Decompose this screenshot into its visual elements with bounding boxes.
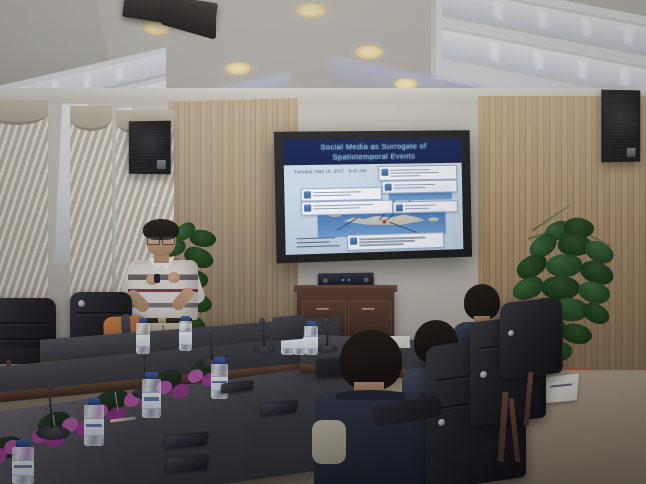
slide: Social Media as Surrogate of Spatiotempo… — [283, 138, 463, 255]
tweet-card — [393, 200, 458, 214]
presenter-clicker — [154, 274, 160, 283]
conference-room-photo: Social Media as Surrogate of Spatiotempo… — [0, 0, 646, 484]
water-bottle[interactable] — [305, 321, 318, 355]
slide-date-label: Tuesday, May 16, 2017 · 9:41 AM — [294, 168, 366, 174]
phone-screen — [164, 433, 208, 448]
credenza-handle-left[interactable] — [316, 308, 329, 310]
laptop[interactable] — [272, 315, 305, 342]
bottle-label — [142, 392, 161, 409]
microphone-base-1 — [36, 426, 70, 440]
tweet-avatar-icon — [304, 205, 311, 212]
bottle-label — [12, 460, 34, 476]
bottle-body — [305, 326, 318, 355]
tweet-card — [378, 165, 457, 181]
bottle-body — [84, 405, 104, 446]
chair-right-3[interactable] — [500, 297, 562, 380]
bottle-body — [12, 447, 34, 484]
microphone-head-1 — [47, 384, 53, 390]
speaker-badge-left — [157, 160, 166, 169]
slide-body: Tuesday, May 16, 2017 · 9:41 AM — [284, 163, 464, 255]
tweet-card — [347, 232, 444, 251]
tweet-card — [382, 179, 457, 194]
credenza-handle-right[interactable] — [362, 308, 375, 310]
bottle-body — [179, 321, 192, 351]
speaker-badge-right — [627, 148, 636, 157]
attendee-1-collar — [336, 390, 406, 400]
map-island-2 — [428, 217, 438, 222]
downlight-4 — [355, 45, 383, 59]
attendee-1-head — [340, 330, 402, 390]
presenter-hand-right — [168, 272, 180, 283]
bottle-cap — [88, 398, 101, 405]
bottle-cap — [214, 357, 225, 364]
water-bottle[interactable] — [84, 398, 104, 446]
tweet-avatar-icon — [381, 169, 388, 176]
water-bottle[interactable] — [136, 318, 150, 354]
slide-title-line-2: Spatiotemporal Events — [332, 151, 415, 162]
microphone-head-3 — [207, 328, 213, 334]
chair-right-1-stud — [438, 418, 445, 426]
tweet-avatar-icon — [396, 204, 403, 211]
downlight-2 — [296, 3, 326, 18]
wall-speaker-left — [129, 121, 171, 175]
downlight-3 — [225, 62, 251, 75]
ceiling-sprinkler — [320, 68, 327, 75]
slide-header: Social Media as Surrogate of Spatiotempo… — [283, 138, 461, 165]
bottle-label — [305, 336, 318, 349]
presenter-glasses — [147, 236, 175, 243]
microphone-head-4 — [259, 318, 265, 324]
tweet-card — [301, 200, 393, 216]
tweet-avatar-icon — [304, 191, 311, 198]
bottle-label — [136, 334, 150, 348]
bottle-cap — [145, 372, 157, 379]
water-bottle[interactable] — [142, 372, 161, 418]
attendee-3-head — [464, 284, 500, 320]
bottle-cap — [16, 440, 30, 447]
bottle-body — [136, 323, 150, 354]
tweet-avatar-icon — [385, 183, 392, 190]
chair-right-2-stud — [480, 371, 487, 379]
curtain-valance-2 — [70, 106, 112, 131]
phone-screen — [166, 455, 208, 472]
water-bottle[interactable] — [179, 316, 192, 351]
bottle-body — [211, 364, 228, 399]
water-bottle[interactable] — [12, 440, 34, 484]
slide-legend — [296, 237, 344, 251]
bottle-label — [179, 331, 192, 344]
tweet-avatar-icon — [350, 238, 357, 245]
microphone-head-5 — [324, 318, 330, 324]
wall-speaker-right — [601, 90, 640, 163]
bottle-body — [142, 379, 161, 418]
presentation-display[interactable]: Social Media as Surrogate of Spatiotempo… — [274, 130, 472, 263]
chair-right-3-stud — [508, 330, 514, 337]
bottle-label — [84, 418, 104, 436]
attendee-1-arm — [312, 420, 346, 464]
